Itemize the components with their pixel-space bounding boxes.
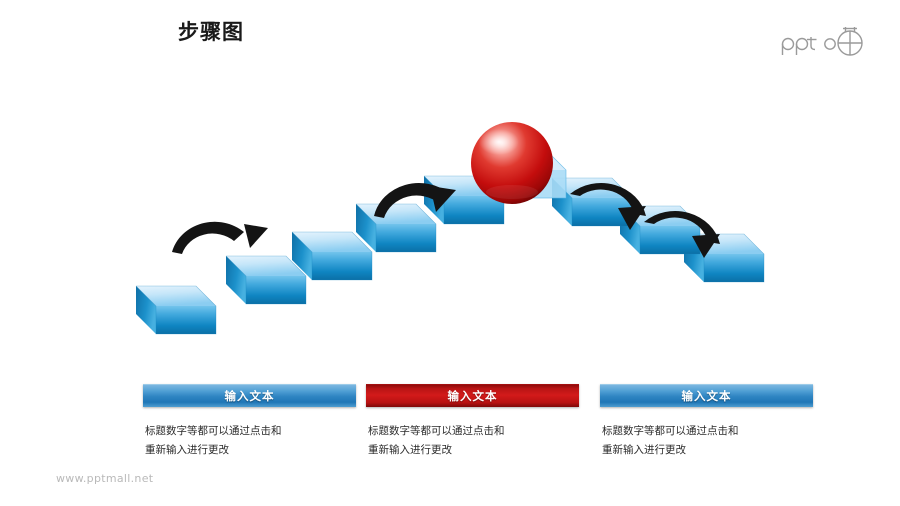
caption-card-3-line1: 标题数字等都可以通过点击和 (602, 422, 813, 441)
caption-cards: 输入文本 标题数字等都可以通过点击和 重新输入进行更改 输入文本 标题数字等都可… (0, 384, 900, 474)
crosshair-target-icon (838, 27, 862, 55)
caption-card-2-line2: 重新输入进行更改 (368, 441, 579, 460)
caption-card-1[interactable]: 输入文本 标题数字等都可以通过点击和 重新输入进行更改 (143, 384, 356, 460)
logo-wordmark-icon (783, 37, 817, 55)
brand-logo (780, 22, 872, 60)
caption-card-2[interactable]: 输入文本 标题数字等都可以通过点击和 重新输入进行更改 (366, 384, 579, 460)
caption-card-2-body: 标题数字等都可以通过点击和 重新输入进行更改 (366, 422, 579, 460)
footer-url[interactable]: www.pptmall.net (56, 472, 153, 485)
caption-card-3-line2: 重新输入进行更改 (602, 441, 813, 460)
page-title: 步骤图 (178, 22, 244, 43)
arrow-icon-1 (172, 222, 268, 254)
step-block-4 (356, 204, 436, 252)
step-block-1 (136, 286, 216, 334)
step-block-3 (292, 232, 372, 280)
caption-card-3[interactable]: 输入文本 标题数字等都可以通过点击和 重新输入进行更改 (600, 384, 813, 460)
caption-card-2-line1: 标题数字等都可以通过点击和 (368, 422, 579, 441)
caption-card-3-body: 标题数字等都可以通过点击和 重新输入进行更改 (600, 422, 813, 460)
step-diagram (0, 120, 900, 360)
caption-card-2-title[interactable]: 输入文本 (366, 384, 579, 407)
caption-card-1-title[interactable]: 输入文本 (143, 384, 356, 407)
caption-card-1-body: 标题数字等都可以通过点击和 重新输入进行更改 (143, 422, 356, 460)
step-block-2 (226, 256, 306, 304)
circle-o-icon (825, 39, 835, 49)
red-sphere-marker (471, 122, 553, 204)
caption-card-1-line1: 标题数字等都可以通过点击和 (145, 422, 356, 441)
caption-card-3-title[interactable]: 输入文本 (600, 384, 813, 407)
caption-card-1-line2: 重新输入进行更改 (145, 441, 356, 460)
